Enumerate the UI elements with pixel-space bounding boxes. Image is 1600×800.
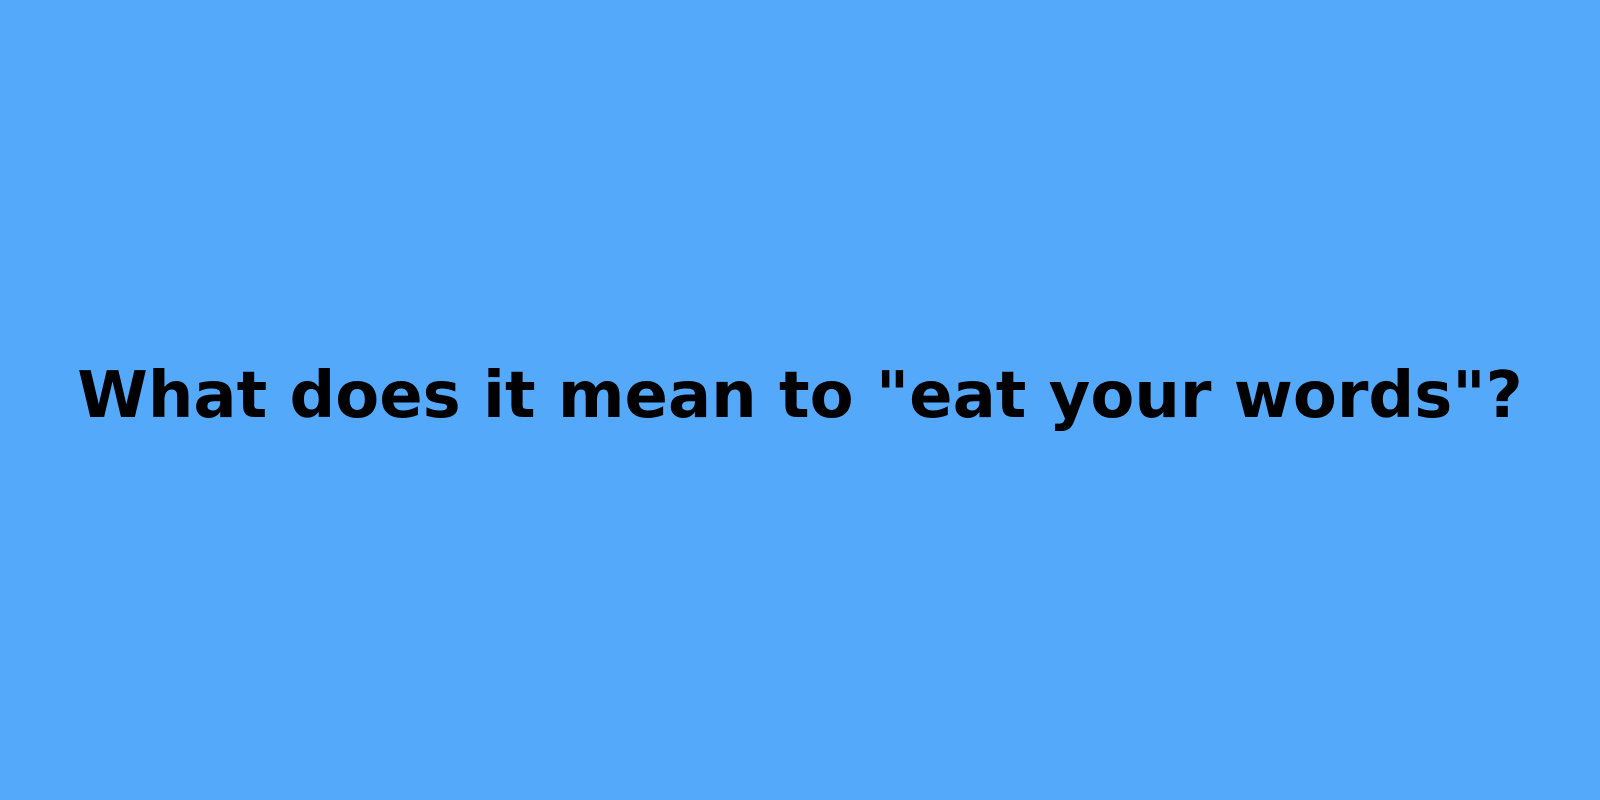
- question-text: What does it mean to "eat your words"?: [77, 356, 1523, 436]
- question-card: What does it mean to "eat your words"?: [0, 0, 1600, 800]
